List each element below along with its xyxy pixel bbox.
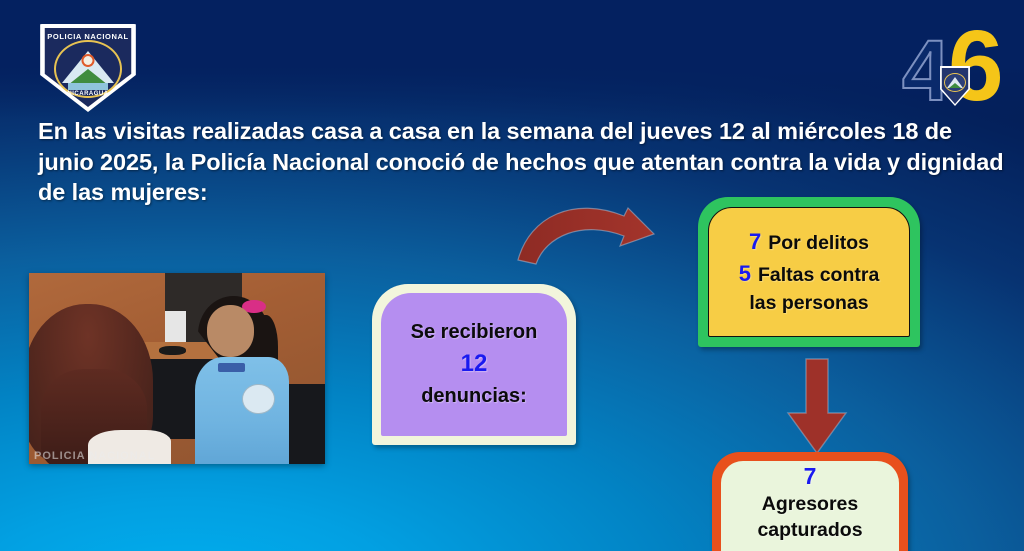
photo-watermark: POLICIA NACIONAL bbox=[34, 450, 155, 462]
photo-officer-uniform bbox=[195, 357, 290, 464]
photo-officer-head bbox=[207, 305, 254, 357]
box-offenses: 7 Por delitos 5 Faltas contra las person… bbox=[698, 197, 920, 347]
rainbow-sun-icon bbox=[84, 56, 93, 65]
offenses-line-3: las personas bbox=[749, 290, 868, 318]
captured-count: 7 bbox=[804, 460, 817, 492]
photo-mouse bbox=[159, 346, 186, 356]
box-captured-text: 7 Agresores capturados bbox=[712, 460, 908, 543]
lake-icon bbox=[68, 83, 108, 90]
slide-background-top-band bbox=[0, 0, 1024, 120]
photo-officer-shoulder-patch bbox=[242, 384, 275, 415]
curved-arrow-icon bbox=[516, 194, 676, 266]
offenses-row-1: 7 Por delitos bbox=[749, 226, 869, 258]
photo-police-attention: POLICIA NACIONAL bbox=[29, 273, 325, 464]
photo-officer-epaulette bbox=[218, 363, 245, 373]
complaints-count: 12 bbox=[461, 347, 488, 382]
down-arrow-icon bbox=[782, 357, 852, 455]
offenses-row-2: 5 Faltas contra bbox=[739, 258, 880, 290]
police-shield-logo: POLICIA NACIONAL NICARAGUA bbox=[36, 24, 140, 112]
anniversary-volcano-icon bbox=[949, 83, 961, 88]
anniversary-46-logo: 4 6 bbox=[904, 16, 1012, 116]
photo-chair bbox=[284, 384, 325, 464]
offenses-count-delitos: 7 bbox=[749, 226, 761, 257]
offenses-label-faltas: Faltas contra bbox=[758, 262, 879, 290]
shield-emblem-ring bbox=[54, 40, 122, 98]
photo-monitor bbox=[165, 311, 186, 342]
captured-line-2: Agresores bbox=[762, 492, 858, 517]
anniversary-badge-ring bbox=[944, 73, 966, 92]
box-complaints: Se recibieron 12 denuncias: bbox=[372, 284, 576, 445]
box-captured: 7 Agresores capturados bbox=[712, 452, 908, 551]
captured-line-3: capturados bbox=[757, 518, 862, 543]
offenses-label-delitos: Por delitos bbox=[768, 230, 869, 258]
offenses-count-faltas: 5 bbox=[739, 258, 751, 289]
shield-text-top: POLICIA NACIONAL bbox=[36, 32, 140, 41]
complaints-line-3: denuncias: bbox=[421, 382, 527, 411]
shield-text-bottom: NICARAGUA bbox=[36, 91, 140, 97]
complaints-line-1: Se recibieron bbox=[411, 318, 538, 347]
box-complaints-text: Se recibieron 12 denuncias: bbox=[372, 284, 576, 445]
box-offenses-text: 7 Por delitos 5 Faltas contra las person… bbox=[698, 197, 920, 347]
